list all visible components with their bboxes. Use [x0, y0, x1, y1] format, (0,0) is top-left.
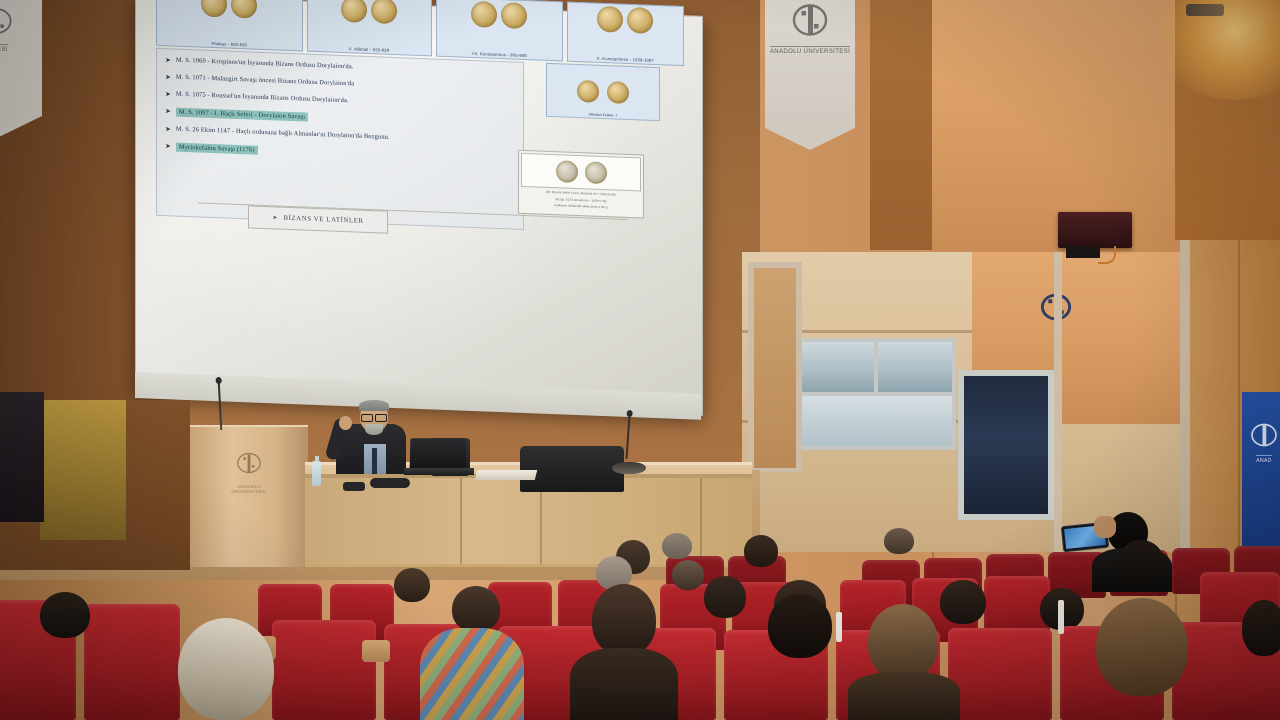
- audience-head: [744, 535, 778, 567]
- coin-caption: VII. Konstantinos - 905-959: [437, 50, 562, 60]
- audience-head: [704, 576, 746, 618]
- audience-head: [394, 568, 430, 602]
- paper-sheet: [475, 470, 537, 480]
- coin-caption: X. Konstantinos - 1059-1067: [568, 55, 683, 64]
- water-bottle: [312, 461, 321, 486]
- projection-screen: Phokas - 602-610 II. Mikhail - 820-829 V…: [135, 0, 703, 416]
- coin-reverse: [501, 2, 527, 29]
- banner-anadolu-center: ANADOLU ÜNİVERSİTESİ: [765, 0, 855, 128]
- ceiling-projector: [1058, 212, 1132, 248]
- audience-head: [1242, 600, 1280, 656]
- coin-panel-side: Alexsios Dukas - I: [546, 63, 660, 121]
- coin-obverse: [597, 6, 623, 33]
- wall-post: [1180, 240, 1190, 570]
- stage-left-dark: [0, 392, 44, 522]
- bullet-arrow-icon: ➤: [165, 126, 171, 133]
- banner-blue-text: ANAD: [1256, 455, 1272, 464]
- anadolu-logo-icon: [0, 4, 14, 38]
- coin-obverse: [556, 160, 578, 183]
- speaker-beard: [365, 424, 383, 435]
- anadolu-logo-icon: [234, 449, 264, 477]
- bullet-text: M. S. 1097 - I. Haçlı Seferi - Dorylaion…: [176, 108, 308, 122]
- bullet-text: M. S. 1071 - Malazgirt Savaşı öncesi Biz…: [176, 74, 354, 88]
- upper-wall-panel: [930, 0, 1180, 252]
- audience-head: [884, 528, 914, 554]
- anadolu-logo-icon: [1249, 420, 1279, 450]
- slide-footer-button: ➤ BİZANS VE LATİNLER: [248, 205, 388, 233]
- desk-cable: [370, 478, 410, 488]
- bullet-arrow-icon: ➤: [165, 91, 171, 98]
- speaker-glasses-icon: [361, 414, 387, 420]
- coin-reverse: [231, 0, 257, 19]
- projector-mount: [1066, 246, 1100, 258]
- coin-panel: Phokas - 602-610: [156, 0, 303, 51]
- door-panel: [754, 268, 796, 468]
- coin-reverse: [607, 81, 629, 104]
- computer-mouse: [343, 482, 365, 491]
- coin-obverse: [341, 0, 367, 23]
- audience-shoulders: [848, 672, 960, 720]
- window-pane: [800, 396, 952, 446]
- seat: [84, 604, 180, 720]
- banner-center-text: ANADOLU ÜNİVERSİTESİ: [770, 46, 850, 55]
- lectern: ANADOLU ÜNİVERSİTESİ: [190, 425, 308, 567]
- window-pane: [800, 342, 874, 392]
- slide-bullet-highlighted: ➤ Myriokefalon Savaşı (1176): [165, 142, 515, 164]
- wall-sconce-light: [1186, 4, 1224, 16]
- wall-column: [870, 0, 932, 250]
- slide-footer-label: BİZANS VE LATİNLER: [283, 215, 363, 225]
- seat: [272, 620, 376, 720]
- audience-head: [768, 594, 832, 658]
- coin-reverse: [371, 0, 397, 24]
- window-pane: [878, 342, 952, 392]
- seat-armrest: [362, 640, 390, 662]
- audience-head: [592, 584, 656, 656]
- audience-head: [452, 586, 500, 632]
- bullet-arrow-icon: ➤: [165, 108, 171, 115]
- slide-reference-box: AR. Bizans sikke 3 mm, Alexsios de I. Ar…: [518, 150, 644, 219]
- banner-left-partial: SİTESİ: [0, 0, 42, 116]
- anadolu-logo-icon: [790, 0, 830, 40]
- bullet-text: Myriokefalon Savaşı (1176): [176, 143, 258, 155]
- bullet-text: M. S. 1069 - Krispinos'un İsyanında Biza…: [176, 57, 354, 71]
- audience-head: [40, 592, 90, 638]
- coin-panel: VII. Konstantinos - 905-959: [436, 0, 563, 61]
- coin-reverse: [627, 7, 653, 34]
- table-seam: [700, 478, 702, 564]
- coin-reverse: [585, 161, 607, 184]
- bullet-text: M. S. 1075 - Roussel'un İsyanında Bizans…: [176, 91, 349, 105]
- aisle-light: [1058, 600, 1064, 634]
- stage-left-curtain: [40, 400, 126, 540]
- coin-panel: II. Mikhail - 820-829: [307, 0, 432, 56]
- booth-glass: [964, 376, 1048, 514]
- lectern-institution-label: ANADOLU ÜNİVERSİTESİ: [226, 484, 272, 494]
- coin-obverse: [471, 1, 497, 28]
- footer-arrow-icon: ➤: [272, 214, 277, 221]
- coin-panel: X. Konstantinos - 1059-1067: [567, 2, 684, 67]
- audience-head: [662, 533, 692, 559]
- aisle-light: [836, 612, 842, 642]
- speaker-hand: [339, 416, 352, 430]
- table-microphone-base: [612, 462, 646, 474]
- bullet-text: M. S. 26 Ekim 1147 - Haçlı ordusuna bağl…: [176, 126, 390, 141]
- presentation-slide: Phokas - 602-610 II. Mikhail - 820-829 V…: [136, 0, 702, 247]
- coin-caption-side: Alexsios Dukas - I: [547, 111, 659, 119]
- audience-shoulders: [420, 628, 524, 720]
- auditorium-photo: SİTESİ ANADOLU ÜNİVERSİTESİ Phokas - 602…: [0, 0, 1280, 720]
- audience-shoulders: [570, 648, 678, 720]
- seat: [948, 628, 1052, 720]
- audience-head: [1118, 540, 1164, 584]
- speaker-hair: [359, 400, 389, 411]
- bullet-arrow-icon: ➤: [165, 57, 171, 64]
- bullet-arrow-icon: ➤: [165, 74, 171, 81]
- table-seam: [460, 478, 462, 564]
- audience-head: [1096, 598, 1188, 696]
- audience-head: [940, 580, 986, 624]
- audience-head: [178, 618, 274, 720]
- reference-coin-images: [521, 153, 641, 192]
- bullet-arrow-icon: ➤: [165, 143, 171, 150]
- audience-head: [672, 560, 704, 590]
- banner-left-text: SİTESİ: [0, 44, 8, 53]
- speaker-tie: [372, 448, 377, 474]
- coin-obverse: [201, 0, 227, 18]
- audience-head: [868, 604, 938, 680]
- lectern-logo: ANADOLU ÜNİVERSİTESİ: [226, 449, 272, 494]
- coin-caption: II. Mikhail - 820-829: [308, 45, 431, 55]
- booth-post: [1054, 252, 1062, 552]
- laptop-base: [404, 468, 474, 475]
- coin-obverse: [577, 80, 599, 103]
- photographer-hand: [1094, 516, 1116, 538]
- laptop-screen: [410, 438, 467, 470]
